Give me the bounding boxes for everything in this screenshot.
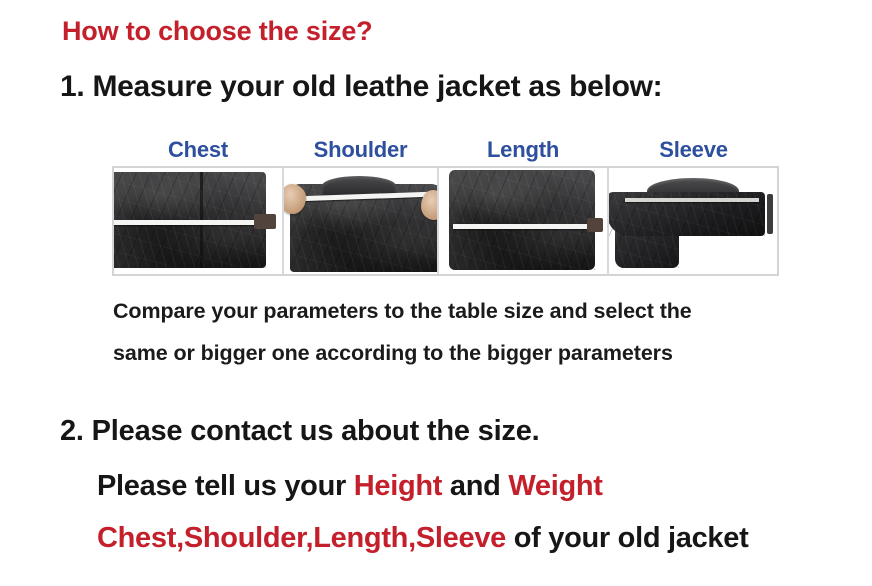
photo-sleeve xyxy=(609,168,777,274)
contact-line2-prefix: Please tell us your xyxy=(97,470,354,502)
tape-measure-end-chest xyxy=(254,214,276,229)
jacket-length-image xyxy=(449,170,595,270)
contact-keywords-measurements: Chest,Shoulder,Length,Sleeve xyxy=(97,522,506,554)
measurement-label-sleeve: Sleeve xyxy=(608,135,779,167)
measurement-photo-strip xyxy=(112,166,779,276)
tape-measure-line-length xyxy=(453,224,595,229)
compare-instructions-line-2: same or bigger one according to the bigg… xyxy=(113,332,833,374)
hand-right xyxy=(421,190,439,220)
step-two-instruction: 2. Please contact us about the size. xyxy=(60,415,540,448)
photo-length xyxy=(439,168,609,274)
contact-line3-suffix: of your old jacket xyxy=(506,522,748,554)
photo-shoulder xyxy=(284,168,439,274)
tape-measure-line-sleeve xyxy=(625,198,759,202)
contact-keyword-weight: Weight xyxy=(508,470,602,502)
size-guide-page: How to choose the size? 1. Measure your … xyxy=(0,0,872,586)
compare-instructions-line-1: Compare your parameters to the table siz… xyxy=(113,290,833,332)
contact-keyword-height: Height xyxy=(354,470,442,502)
step-one-instruction: 1. Measure your old leathe jacket as bel… xyxy=(60,70,662,104)
compare-instructions: Compare your parameters to the table siz… xyxy=(113,290,833,374)
page-title: How to choose the size? xyxy=(62,16,372,47)
photo-chest xyxy=(114,168,284,274)
tape-measure-end-length xyxy=(587,218,603,232)
contact-measurements-line: Chest,Shoulder,Length,Sleeve of your old… xyxy=(97,522,748,555)
contact-line2-mid: and xyxy=(442,470,508,502)
jacket-cuff xyxy=(767,194,773,234)
measurement-label-shoulder: Shoulder xyxy=(283,135,438,167)
measurement-label-row: Chest Shoulder Length Sleeve xyxy=(113,135,779,167)
contact-height-weight-line: Please tell us your Height and Weight xyxy=(97,470,603,503)
measurement-label-chest: Chest xyxy=(113,135,283,167)
measurement-label-length: Length xyxy=(438,135,608,167)
tape-measure-line-chest xyxy=(114,220,262,225)
